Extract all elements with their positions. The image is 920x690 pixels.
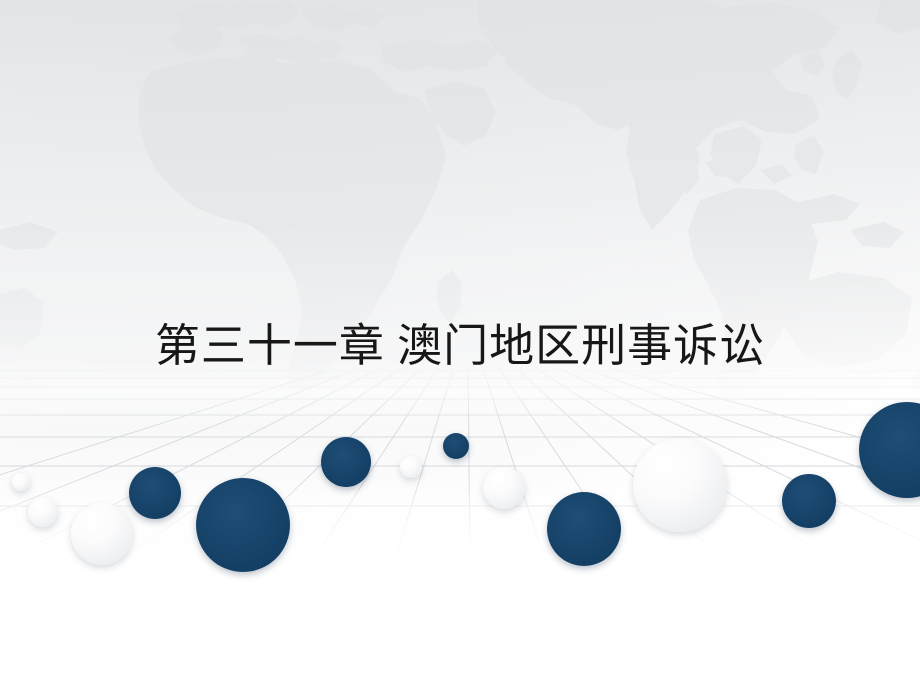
circle-white-09: [483, 467, 525, 509]
circle-blue-08: [443, 433, 469, 459]
circle-blue-04: [129, 467, 181, 519]
circle-blue-12: [782, 474, 836, 528]
circle-white-01: [12, 473, 30, 491]
presentation-slide: 第三十一章 澳门地区刑事诉讼: [0, 0, 920, 690]
circle-white-02: [28, 497, 58, 527]
circle-blue-05: [196, 478, 290, 572]
circle-blue-06: [321, 437, 371, 487]
circle-white-07: [400, 456, 422, 478]
circle-blue-10: [547, 492, 621, 566]
circle-white-11: [633, 438, 727, 532]
slide-title: 第三十一章 澳门地区刑事诉讼: [0, 312, 920, 380]
circle-white-03: [71, 503, 133, 565]
